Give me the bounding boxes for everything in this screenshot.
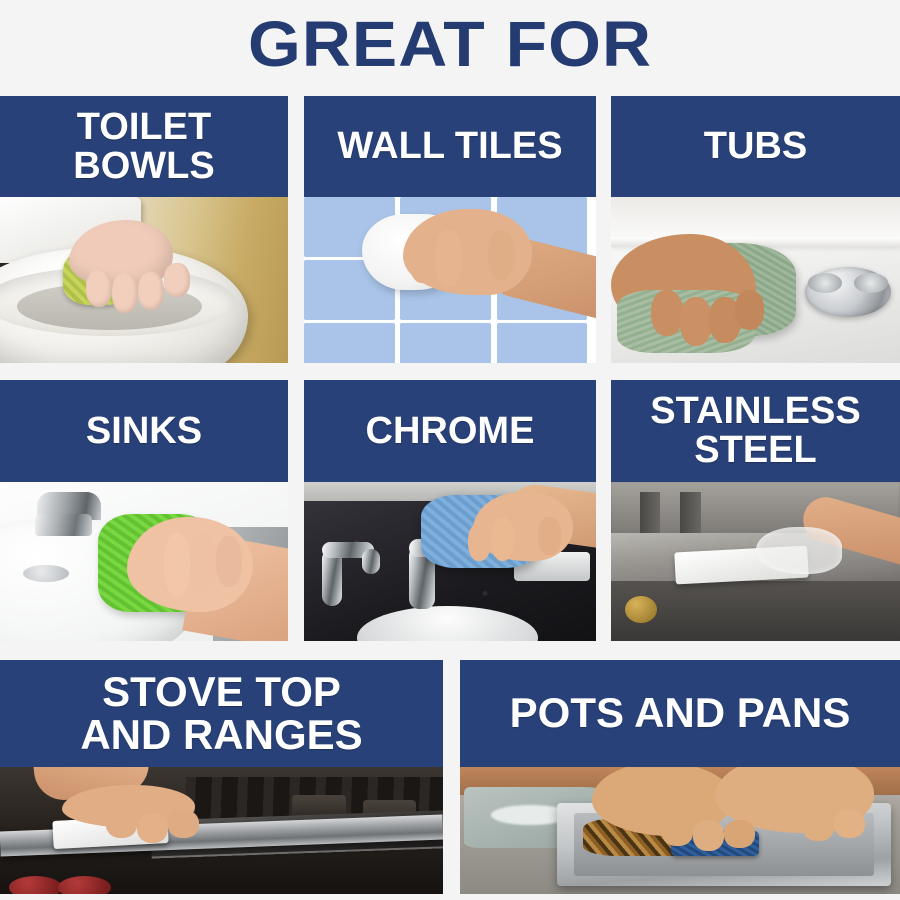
feature-label-wall-tiles: WALL TILES	[327, 127, 572, 166]
feature-card-chrome[interactable]: CHROME	[304, 380, 596, 641]
feature-image-stove-top-and-ranges	[0, 767, 443, 894]
feature-card-pots-and-pans[interactable]: POTS AND PANS	[460, 660, 900, 894]
feature-label-sinks: SINKS	[76, 412, 212, 451]
feature-image-chrome	[304, 482, 596, 641]
feature-label-stainless-steel: STAINLESS STEEL	[640, 392, 870, 470]
feature-card-stainless-steel[interactable]: STAINLESS STEEL	[611, 380, 900, 641]
feature-card-stove-top-and-ranges[interactable]: STOVE TOP AND RANGES	[0, 660, 443, 894]
feature-card-tubs[interactable]: TUBS	[611, 96, 900, 363]
feature-card-sinks[interactable]: SINKS	[0, 380, 288, 641]
feature-image-sinks	[0, 482, 288, 641]
feature-image-tubs	[611, 197, 900, 363]
feature-banner-pots-and-pans: POTS AND PANS	[460, 660, 900, 767]
feature-banner-wall-tiles: WALL TILES	[304, 96, 596, 197]
feature-label-stove-top-and-ranges: STOVE TOP AND RANGES	[70, 671, 372, 757]
feature-banner-stainless-steel: STAINLESS STEEL	[611, 380, 900, 482]
feature-label-chrome: CHROME	[356, 412, 545, 451]
feature-label-tubs: TUBS	[694, 127, 817, 166]
feature-label-toilet-bowls: TOILET BOWLS	[63, 108, 224, 186]
feature-card-wall-tiles[interactable]: WALL TILES	[304, 96, 596, 363]
feature-banner-sinks: SINKS	[0, 380, 288, 482]
feature-banner-toilet-bowls: TOILET BOWLS	[0, 96, 288, 197]
feature-image-stainless-steel	[611, 482, 900, 641]
feature-image-toilet-bowls	[0, 197, 288, 363]
feature-banner-chrome: CHROME	[304, 380, 596, 482]
feature-label-pots-and-pans: POTS AND PANS	[500, 692, 861, 735]
feature-grid: TOILET BOWLS	[0, 0, 900, 900]
feature-card-toilet-bowls[interactable]: TOILET BOWLS	[0, 96, 288, 363]
feature-image-wall-tiles	[304, 197, 596, 363]
feature-banner-stove-top-and-ranges: STOVE TOP AND RANGES	[0, 660, 443, 767]
feature-banner-tubs: TUBS	[611, 96, 900, 197]
feature-image-pots-and-pans	[460, 767, 900, 894]
